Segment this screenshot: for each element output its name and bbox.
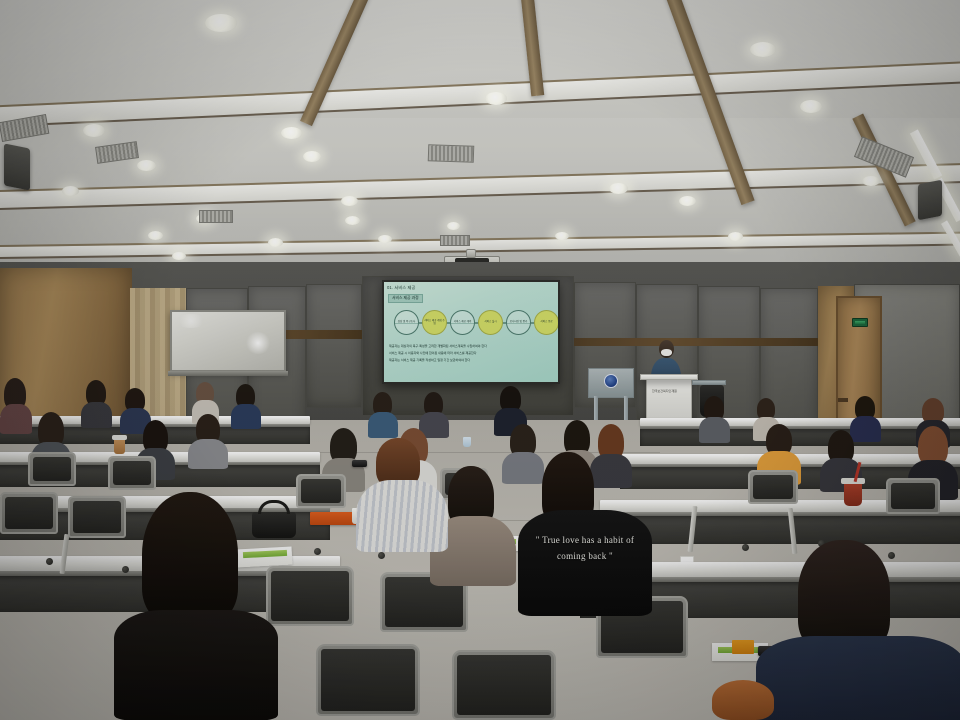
tan-leather-bag (712, 680, 774, 720)
tshirt-text-line-1: " True love has a habit of (518, 534, 652, 547)
downlight (750, 42, 776, 57)
smartphone-on-desk (352, 460, 367, 467)
wall-wood-trim-right (574, 338, 820, 346)
podium-label: 한국보건복지인재원 (652, 389, 677, 393)
chair-back (28, 452, 76, 486)
attendee-torso (231, 404, 261, 429)
downlight (281, 127, 302, 139)
downlight (447, 222, 460, 230)
slide-subtitle: 서비스 제공 과정 (388, 294, 423, 303)
chair-back (748, 470, 798, 504)
flow-step-6: 서비스 종료 (534, 310, 558, 335)
chair[interactable] (886, 478, 940, 514)
chair-caster (314, 548, 321, 555)
downlight (303, 151, 321, 162)
presenter-face-mask (661, 349, 672, 356)
desk-modesty-panel (600, 516, 960, 544)
air-vent-mid-2 (440, 235, 470, 246)
air-vent-mid (199, 210, 233, 223)
slide-bullet-3: 제공자는 서비스 제공 기록을 작성하고 일정 기간 보관하여야 한다 (389, 358, 553, 362)
presentation-slide: 01. 서비스 제공 서비스 제공 과정 상담 및 욕구조사 서비스 제공 계획… (384, 282, 558, 382)
desk-modesty-panel (640, 429, 960, 446)
iced-drink-cup (844, 482, 862, 506)
whiteboard-tray (168, 371, 288, 376)
downlight (62, 186, 79, 196)
air-vent-right (428, 144, 475, 163)
downlight (345, 216, 360, 225)
chair-back (68, 496, 126, 538)
downlight (378, 235, 392, 243)
air-vent-center (95, 141, 139, 164)
chair-caster (378, 552, 385, 559)
podium-top-shelf (640, 374, 698, 380)
slide-bullets: 제공자는 대상자의 욕구·특성을 고려한 개별화된 서비스계획을 수립하여야 한… (389, 344, 553, 362)
desk-row-far-right (640, 418, 960, 448)
flow-step-2: 서비스 제공 계획 수립 (422, 310, 447, 335)
lecture-hall-scene: 01. 서비스 제공 서비스 제공 과정 상담 및 욕구조사 서비스 제공 계획… (0, 0, 960, 720)
attendee-torso (188, 439, 228, 469)
water-cup (463, 437, 471, 447)
attendee-torso (590, 454, 632, 488)
door-handle[interactable] (838, 398, 848, 402)
chair[interactable] (28, 452, 76, 486)
downlight (485, 92, 507, 105)
chair-back (0, 492, 58, 534)
chair-caster (46, 558, 53, 565)
chair-foreground[interactable] (266, 566, 354, 626)
downlight (555, 232, 569, 240)
chair[interactable] (0, 492, 58, 534)
attendee-torso (81, 402, 112, 428)
chair[interactable] (296, 474, 346, 508)
downlight (205, 14, 237, 32)
downlight (728, 232, 743, 241)
lectern-emblem (604, 374, 618, 388)
downlight (148, 231, 163, 240)
attendee-torso (368, 412, 398, 438)
downlight (172, 252, 186, 260)
chair-back (886, 478, 940, 514)
flow-step-5: 모니터링 및 평가 (506, 310, 531, 335)
attendee-torso (0, 404, 32, 434)
chair-back (452, 650, 556, 720)
chair-caster (742, 544, 749, 551)
downlight (137, 160, 156, 171)
chair[interactable] (748, 470, 798, 504)
flow-step-1: 상담 및 욕구조사 (394, 310, 419, 335)
downlight (341, 196, 358, 206)
slide-bullet-1: 제공자는 대상자의 욕구·특성을 고려한 개별화된 서비스계획을 수립하여야 한… (389, 344, 553, 348)
ceiling-speaker-left (4, 143, 30, 190)
attendee-torso (699, 417, 730, 443)
whiteboard-glare (245, 332, 271, 354)
chair-back (296, 474, 346, 508)
desk-top (640, 418, 960, 426)
attendee-torso (850, 416, 881, 442)
projection-screen: 01. 서비스 제공 서비스 제공 과정 상담 및 욕구조사 서비스 제공 계획… (382, 280, 560, 384)
slide-title: 01. 서비스 제공 (387, 285, 415, 291)
chair-back (108, 456, 156, 490)
downlight (800, 100, 822, 113)
downlight (609, 183, 628, 194)
chair-back (316, 644, 420, 716)
attendee-torso-striped (356, 480, 448, 552)
chair-foreground[interactable] (452, 650, 556, 720)
cup-lid (112, 435, 127, 440)
attendee-torso (114, 610, 278, 720)
exit-sign (852, 318, 868, 327)
downlight (679, 196, 696, 206)
attendee-torso (756, 636, 960, 720)
coffee-cup (114, 438, 125, 454)
chair-back (266, 566, 354, 626)
whiteboard-glare-2 (176, 314, 206, 328)
chair-caster (122, 566, 129, 573)
acoustic-panel-left-3 (306, 284, 362, 408)
ceiling (0, 0, 960, 280)
attendee-torso (502, 452, 544, 484)
downlight (862, 176, 880, 186)
attendee-hair (142, 492, 238, 622)
attendee-torso-tshirt: " True love has a habit of coming back " (518, 510, 652, 616)
ceiling-speaker-right (918, 180, 942, 221)
flow-step-3: 서비스 제공 계약 (450, 310, 475, 335)
downlight (268, 238, 283, 247)
black-tote-bag (252, 512, 296, 538)
slide-bullet-2: 서비스 제공 시 이용자와 사전에 합의된 내용에 따라 서비스를 제공한다 (389, 351, 553, 355)
chair-foreground[interactable] (316, 644, 420, 716)
downlight (83, 124, 105, 137)
orange-sticky-pad (732, 640, 754, 654)
chair[interactable] (68, 496, 126, 538)
tshirt-text-line-2: coming back " (518, 550, 652, 563)
projector-mount (466, 249, 476, 258)
chair[interactable] (108, 456, 156, 490)
chair-caster (888, 552, 895, 559)
flow-step-4: 서비스 실시 (478, 310, 503, 335)
